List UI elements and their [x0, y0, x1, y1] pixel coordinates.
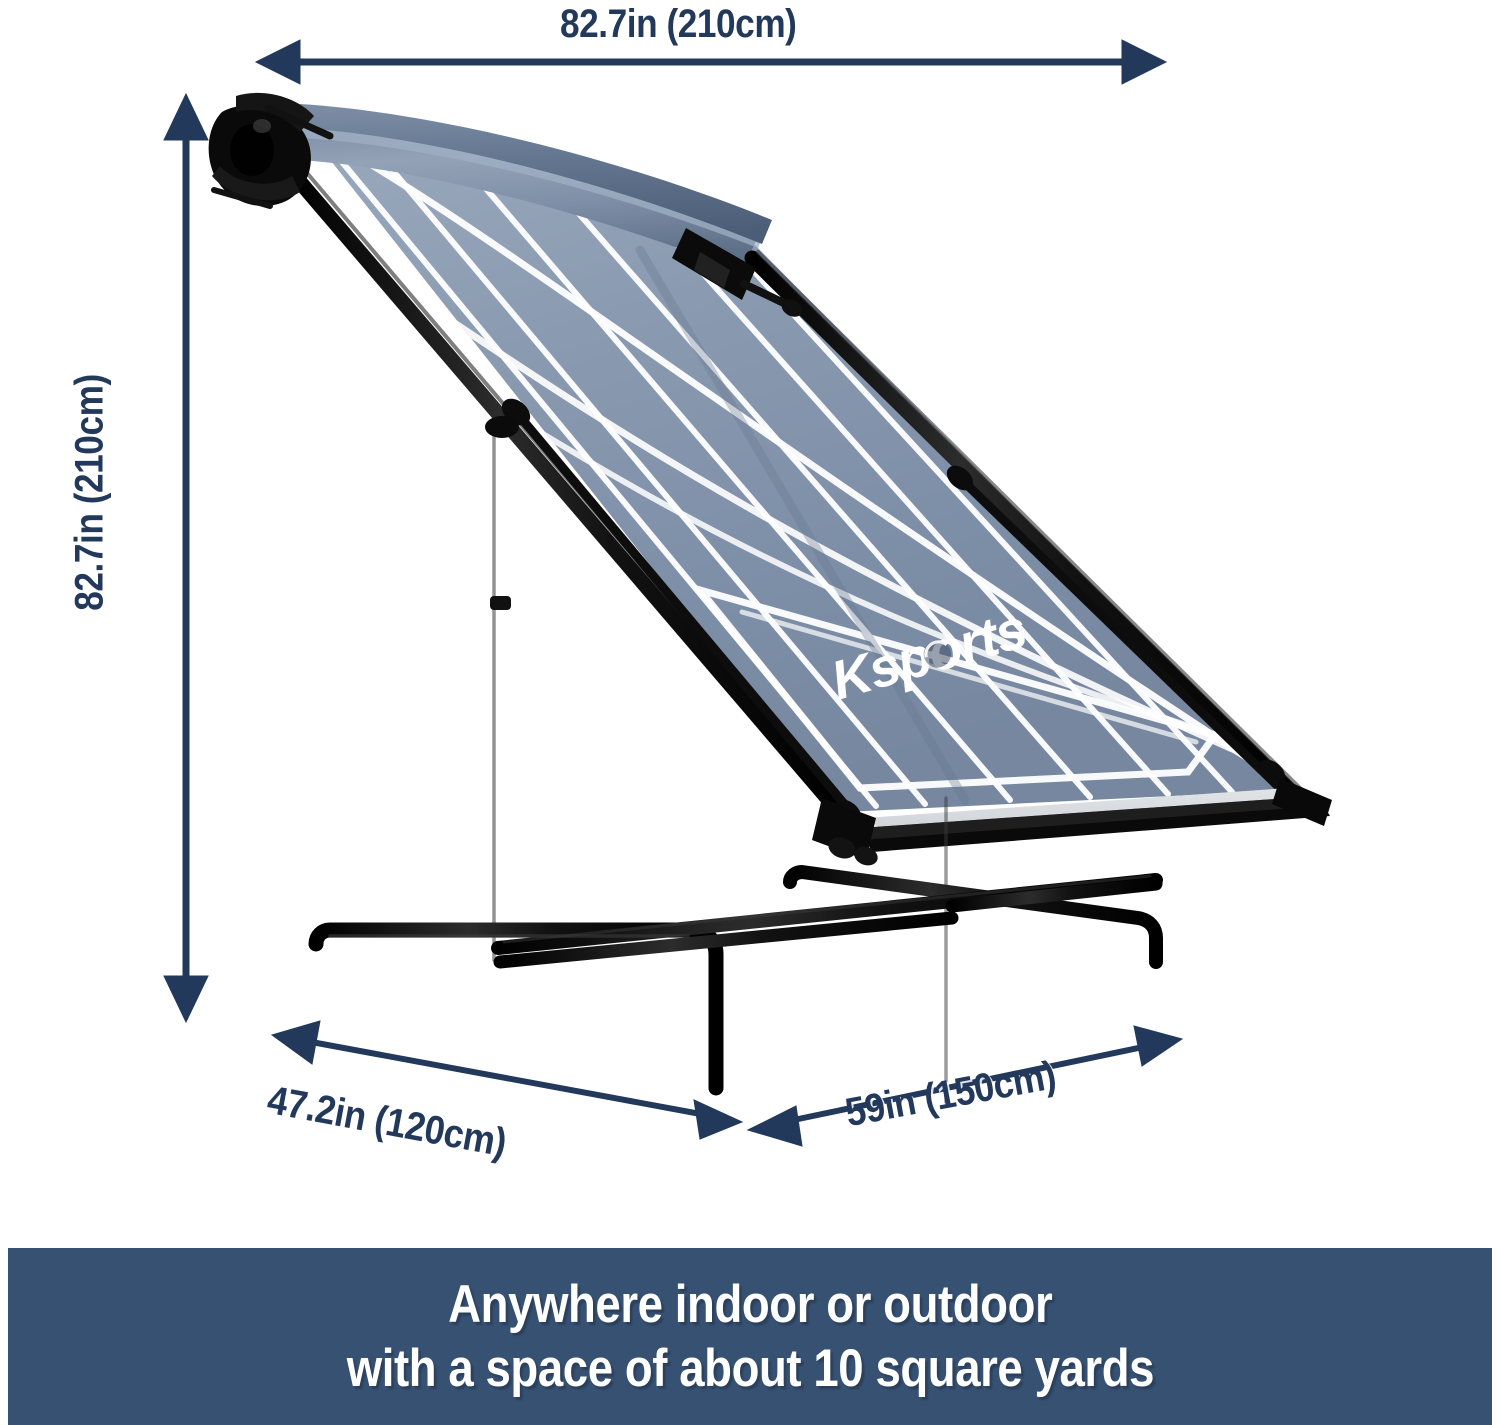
support-pole-rear: [946, 798, 952, 1102]
net-fabric: [298, 104, 1295, 812]
dimension-arrow-left: [164, 94, 208, 1022]
rebounder-illustration: Ksports: [0, 0, 1500, 1425]
dimension-label-left-height: 82.7in (210cm): [68, 343, 113, 642]
product-dimension-diagram: Ksports: [0, 0, 1500, 1425]
dimension-label-top-width: 82.7in (210cm): [560, 2, 796, 47]
base-frame: [316, 872, 1156, 1088]
support-pole-front: [485, 416, 519, 960]
banner-line-1: Anywhere indoor or outdoor: [448, 1275, 1052, 1334]
banner-line-2: with a space of about 10 square yards: [346, 1339, 1153, 1398]
feature-banner: Anywhere indoor or outdoor with a space …: [8, 1248, 1492, 1425]
